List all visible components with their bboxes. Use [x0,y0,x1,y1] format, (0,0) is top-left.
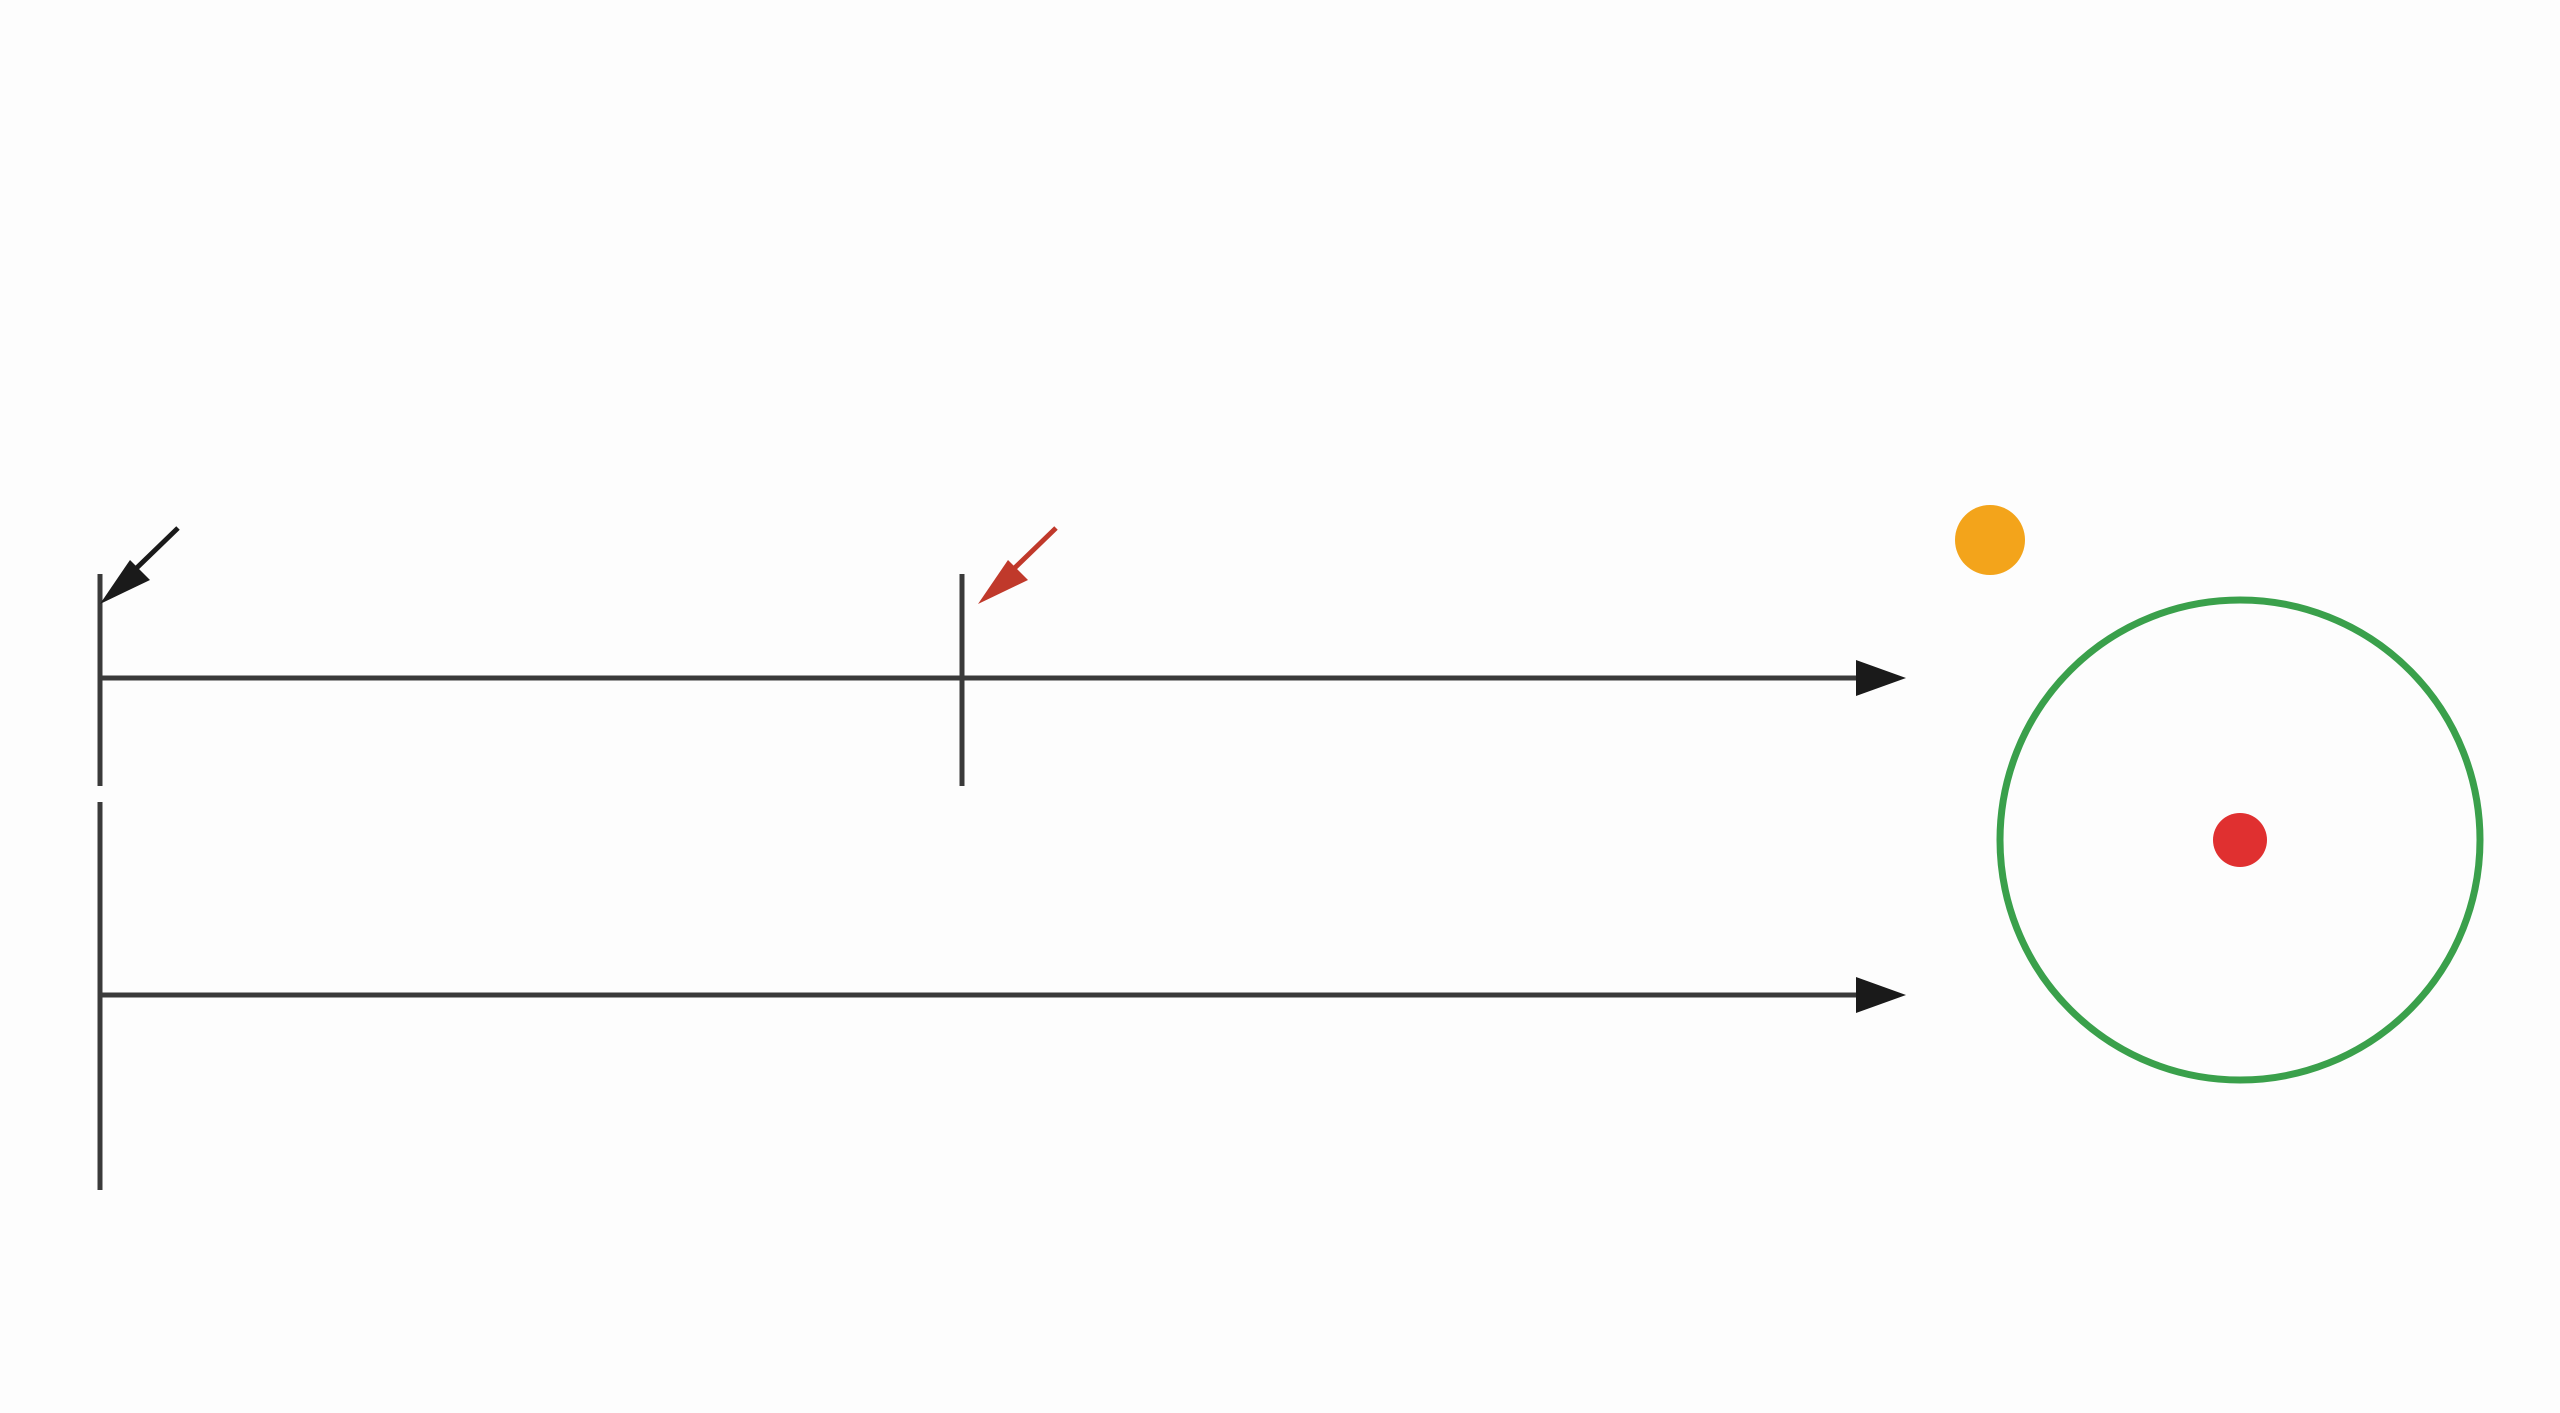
orbit-svg [1990,540,2560,1140]
wave-b-pointer-arrow-icon [978,528,1056,604]
slide-root [0,0,2560,1413]
top-axis-group [98,528,1906,786]
wave-a-pointer-arrow-icon [100,528,178,604]
center-body-dot [2213,813,2267,867]
orbiting-body-dot [1955,505,2025,575]
top-axis-arrowhead-icon [1856,660,1906,696]
bottom-axis-arrowhead-icon [1856,977,1906,1013]
wave-figure [0,490,1980,1230]
wave-svg [0,490,1980,1230]
bottom-axis-group [98,802,1906,1190]
orbit-figure [1990,540,2560,1140]
